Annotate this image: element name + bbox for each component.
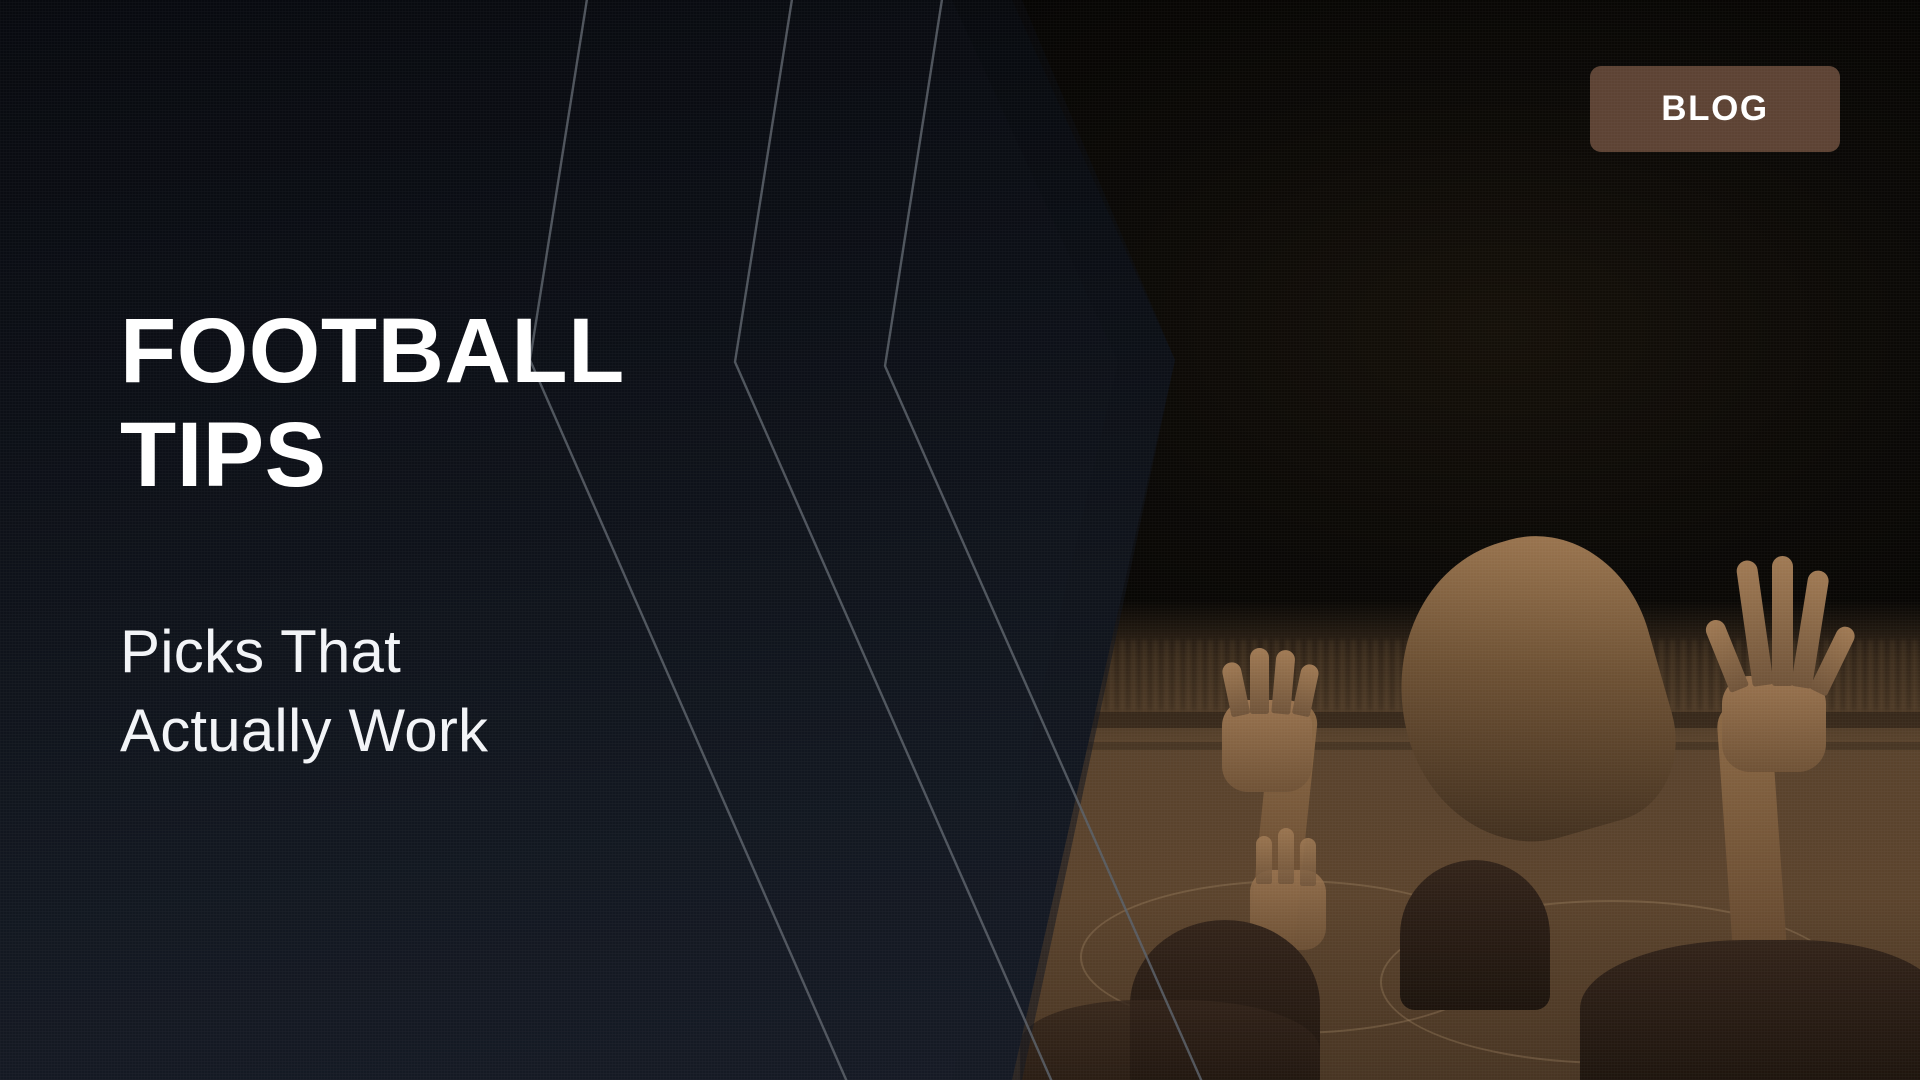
blog-badge[interactable]: BLOG — [1590, 66, 1840, 152]
blog-badge-label: BLOG — [1661, 89, 1769, 129]
headline-line-1: FOOTBALL — [120, 300, 820, 404]
headline-line-2: TIPS — [120, 404, 820, 508]
page-title: FOOTBALL TIPS — [120, 300, 820, 508]
banner-text-block: FOOTBALL TIPS Picks That Actually Work — [120, 300, 820, 770]
subtitle-line-2: Actually Work — [120, 691, 820, 770]
subtitle-line-1: Picks That — [120, 612, 820, 691]
blog-banner: FOOTBALL TIPS Picks That Actually Work B… — [0, 0, 1920, 1080]
page-subtitle: Picks That Actually Work — [120, 612, 820, 770]
